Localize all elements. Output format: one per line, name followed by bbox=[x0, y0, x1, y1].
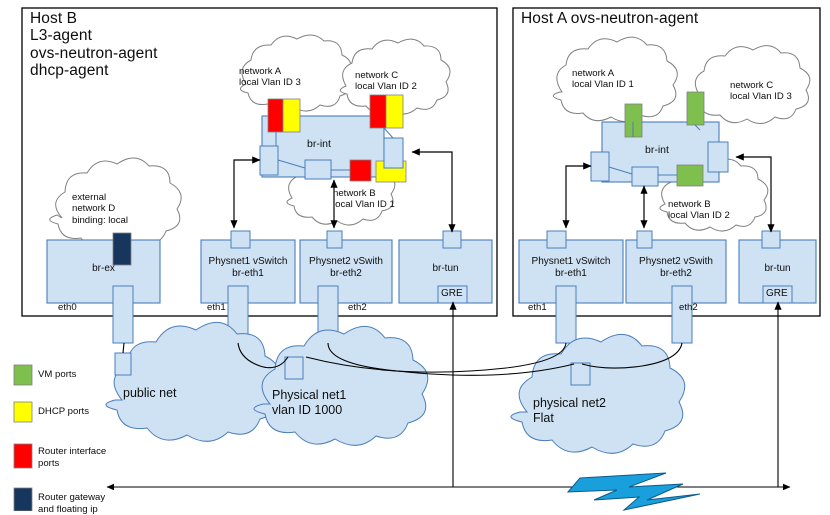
b-port-patch-eth1 bbox=[260, 146, 278, 175]
cloud-label-a-network-b: network B local Vlan ID 2 bbox=[668, 199, 730, 222]
a-br-eth2-label: Physnet2 vSwith br-eth2 bbox=[626, 256, 726, 280]
cloud-label-b-network-b: network B local Vlan ID 1 bbox=[333, 188, 395, 211]
b-port-patch-tun bbox=[384, 138, 403, 168]
a-port-vm-c bbox=[687, 92, 704, 125]
a-br-tun-label: br-tun bbox=[739, 263, 816, 275]
legend-swatch-dhcp bbox=[14, 402, 32, 422]
host-b-title: Host B L3-agent ovs-neutron-agent dhcp-a… bbox=[30, 10, 158, 79]
b-br-eth1-label: Physnet1 vSwitch br-eth1 bbox=[201, 256, 295, 280]
b-br-eth1-top-port bbox=[231, 231, 250, 248]
cloud-label-a-network-a: network A local Vlan ID 1 bbox=[572, 68, 634, 91]
b-eth0-label: eth0 bbox=[58, 303, 77, 314]
b-eth2-label: eth2 bbox=[348, 303, 367, 314]
physical-net1-label: Physical net1 vlan ID 1000 bbox=[272, 388, 346, 418]
a-eth2-nic bbox=[672, 286, 692, 343]
a-eth1-nic bbox=[556, 286, 576, 343]
public-net-port bbox=[115, 353, 131, 375]
diagram-canvas: Host B L3-agent ovs-neutron-agent dhcp-a… bbox=[0, 0, 830, 511]
legend-label-vm: VM ports bbox=[38, 369, 76, 381]
a-port-patch-tun bbox=[708, 142, 728, 172]
b-port-dhcp-c bbox=[386, 95, 403, 128]
legend-label-router-gateway: Router gateway and floating ip bbox=[38, 492, 105, 515]
legend-swatch-router-gateway bbox=[14, 488, 32, 511]
b-port-patch-eth2 bbox=[305, 160, 331, 179]
b-port-gateway bbox=[113, 233, 131, 265]
a-br-int-label: br-int bbox=[645, 145, 669, 157]
a-eth1-label: eth1 bbox=[528, 303, 547, 314]
lightning-bolt-icon bbox=[568, 473, 700, 510]
a-port-patch-eth1 bbox=[591, 152, 609, 181]
b-br-eth2-label: Physnet2 vSwith br-eth2 bbox=[300, 256, 392, 280]
b-br-eth2-top-port bbox=[327, 231, 342, 248]
b-port-router-b bbox=[350, 160, 371, 181]
cloud-physical-net2 bbox=[511, 334, 685, 453]
a-port-patch-eth2 bbox=[632, 167, 658, 186]
public-net-label: public net bbox=[123, 386, 177, 401]
a-gre-label: GRE bbox=[766, 288, 788, 299]
a-eth2-label: eth2 bbox=[679, 303, 698, 314]
physical-net2-port bbox=[571, 363, 590, 385]
cloud-label-a-network-c: network C local Vlan ID 3 bbox=[730, 80, 792, 103]
b-br-ex-label: br-ex bbox=[47, 263, 160, 275]
b-br-tun-top-port bbox=[443, 231, 461, 248]
cloud-physical-net1 bbox=[254, 326, 428, 445]
b-eth1-label: eth1 bbox=[207, 303, 226, 314]
b-br-tun-label: br-tun bbox=[399, 263, 492, 275]
b-br-int-label: br-int bbox=[307, 139, 331, 151]
cloud-label-b-network-a: network A local Vlan ID 3 bbox=[239, 66, 301, 89]
a-br-eth1-label: Physnet1 vSwitch br-eth1 bbox=[519, 256, 623, 280]
b-eth0-nic bbox=[113, 286, 133, 343]
a-br-tun-top-port bbox=[762, 231, 780, 248]
cloud-label-b-external-d: external network D binding: local bbox=[72, 192, 128, 226]
b-port-router-a bbox=[268, 99, 283, 132]
legend-label-dhcp: DHCP ports bbox=[38, 406, 89, 418]
host-a-title: Host A ovs-neutron-agent bbox=[521, 10, 698, 27]
b-gre-label: GRE bbox=[441, 288, 463, 299]
legend-label-router-if: Router interface ports bbox=[38, 446, 106, 469]
b-port-router-c bbox=[370, 95, 386, 128]
a-br-eth1-top-port bbox=[547, 231, 566, 248]
a-br-eth2-top-port bbox=[637, 231, 652, 248]
b-port-dhcp-a bbox=[283, 99, 300, 132]
legend-swatch-router-if bbox=[14, 444, 32, 468]
cloud-label-b-network-c: network C local Vlan ID 2 bbox=[355, 70, 417, 93]
a-port-vm-b bbox=[677, 165, 703, 186]
legend-swatch-vm bbox=[14, 365, 32, 385]
physical-net2-label: physical net2 Flat bbox=[533, 396, 606, 426]
physical-net1-port bbox=[285, 357, 303, 379]
